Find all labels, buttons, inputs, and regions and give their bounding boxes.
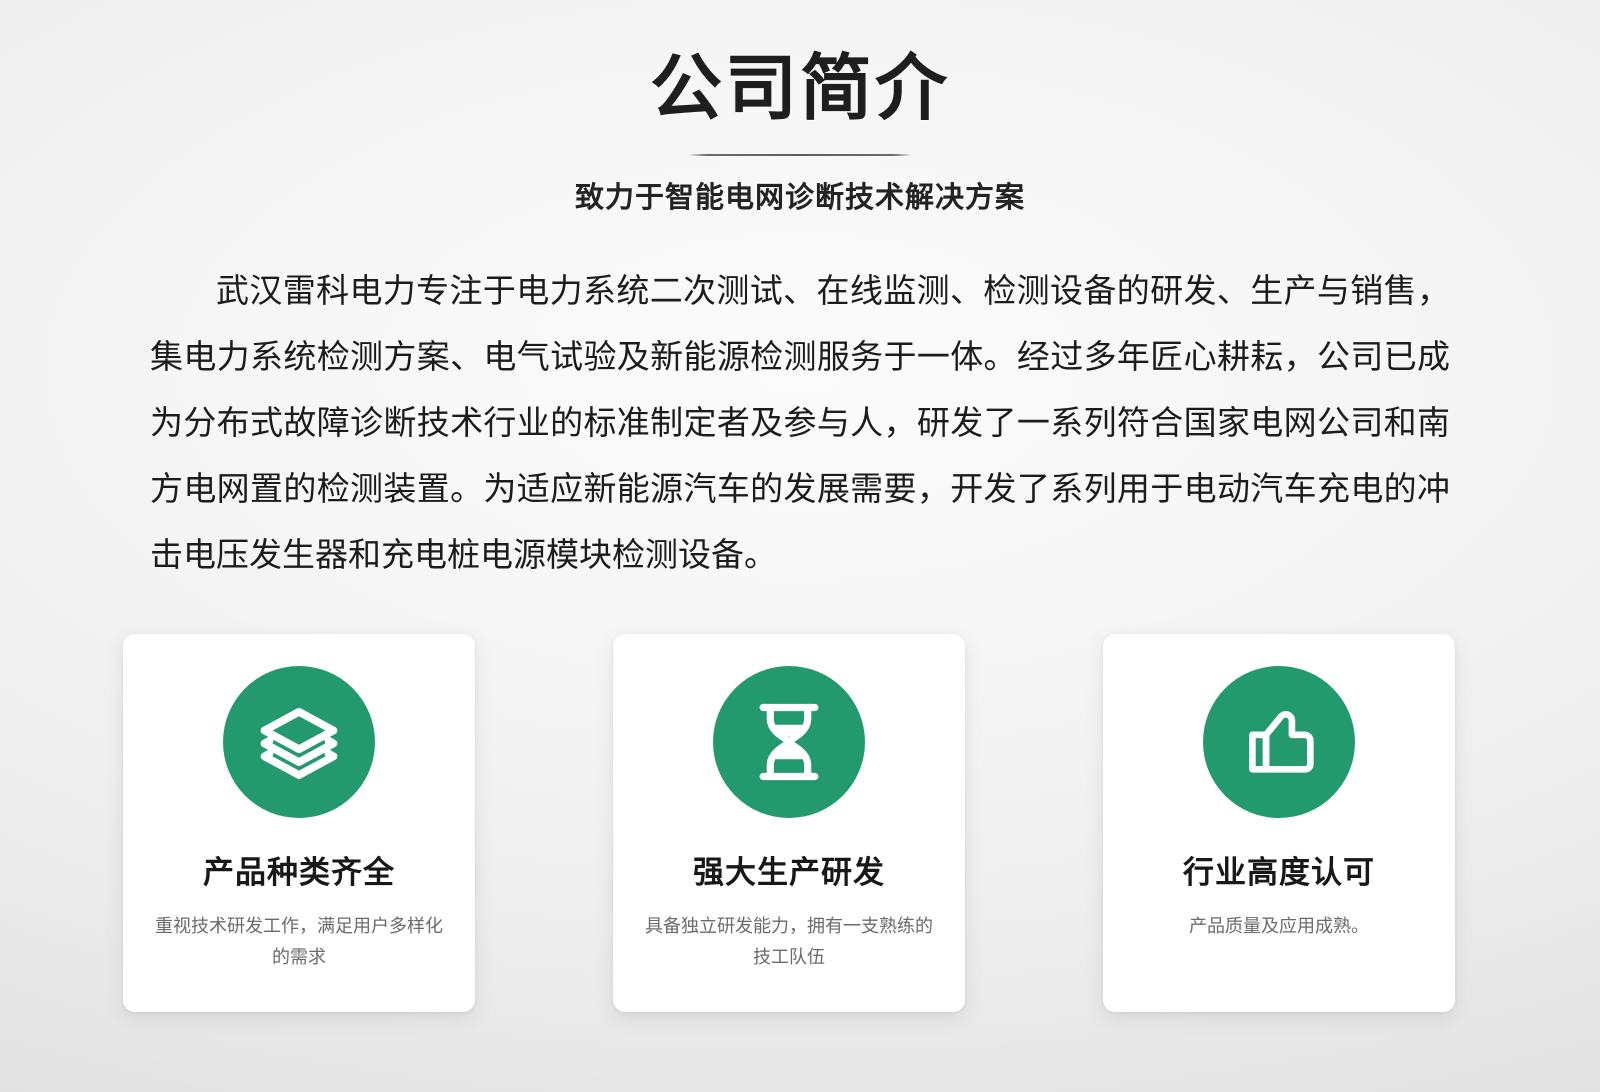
feature-card-desc: 重视技术研发工作，满足用户多样化的需求: [149, 911, 449, 973]
section-header: 公司简介 致力于智能电网诊断技术解决方案: [0, 0, 1600, 217]
feature-card[interactable]: 产品种类齐全 重视技术研发工作，满足用户多样化的需求: [123, 634, 475, 1012]
feature-card-desc: 具备独立研发能力，拥有一支熟练的技工队伍: [639, 911, 939, 973]
icon-badge: [713, 666, 865, 818]
icon-badge: [223, 666, 375, 818]
feature-card[interactable]: 行业高度认可 产品质量及应用成熟。: [1103, 634, 1455, 1012]
page-title: 公司简介: [0, 46, 1600, 132]
page-background: 公司简介 致力于智能电网诊断技术解决方案 武汉雷科电力专注于电力系统二次测试、在…: [0, 0, 1600, 1092]
company-intro-paragraph: 武汉雷科电力专注于电力系统二次测试、在线监测、检测设备的研发、生产与销售，集电力…: [150, 258, 1450, 588]
page-subtitle: 致力于智能电网诊断技术解决方案: [0, 179, 1600, 217]
feature-card-title: 强大生产研发: [693, 853, 885, 893]
icon-badge: [1203, 666, 1355, 818]
feature-card-title: 产品种类齐全: [203, 853, 395, 893]
feature-card-desc: 产品质量及应用成熟。: [1129, 911, 1429, 942]
feature-card[interactable]: 强大生产研发 具备独立研发能力，拥有一支熟练的技工队伍: [613, 634, 965, 1012]
thumbs-up-icon: [1233, 696, 1325, 788]
title-divider: [688, 154, 912, 156]
feature-card-title: 行业高度认可: [1183, 853, 1375, 893]
feature-card-list: 产品种类齐全 重视技术研发工作，满足用户多样化的需求: [123, 634, 1455, 1012]
hourglass-icon: [743, 696, 835, 788]
layers-icon: [253, 696, 345, 788]
